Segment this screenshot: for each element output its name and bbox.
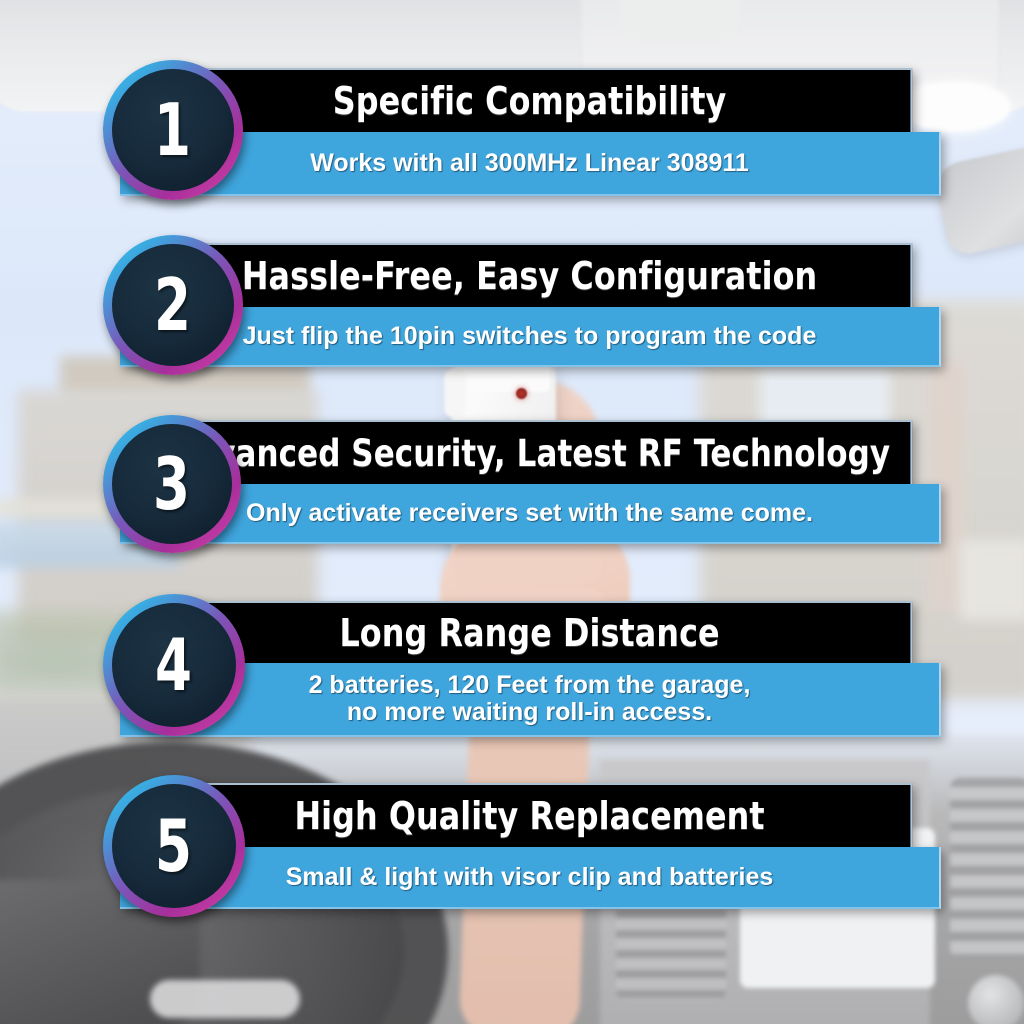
badge-number: 2: [155, 263, 192, 347]
console-knob: [968, 975, 1024, 1024]
feature-title-text: Long Range Distance: [339, 611, 719, 655]
feature-title-bar: Specific Compatibility: [149, 68, 913, 132]
feature-number-badge: 3: [103, 415, 241, 553]
badge-inner-circle: 1: [112, 69, 234, 191]
badge-number: 5: [156, 804, 193, 888]
feature-subtitle-bar: Works with all 300MHz Linear 308911: [120, 132, 941, 196]
badge-number: 3: [154, 442, 191, 526]
infographic-canvas: Specific CompatibilityWorks with all 300…: [0, 0, 1024, 1024]
feature-bars: Advanced Security, Latest RF TechnologyO…: [120, 420, 941, 544]
feature-title-text: Hassle-Free, Easy Configuration: [242, 254, 817, 298]
feature-title-bar: Advanced Security, Latest RF Technology: [149, 420, 913, 484]
car-roof-seam: [620, 0, 740, 40]
feature-subtitle-text: Only activate receivers set with the sam…: [246, 500, 813, 527]
badge-inner-circle: 4: [112, 603, 236, 727]
visor-clip: [444, 368, 466, 418]
feature-bars: Hassle-Free, Easy ConfigurationJust flip…: [120, 243, 941, 367]
feature-subtitle-bar: Only activate receivers set with the sam…: [120, 484, 941, 544]
feature-title-bar: Hassle-Free, Easy Configuration: [149, 243, 913, 307]
feature-number-badge: 1: [103, 60, 243, 200]
badge-inner-circle: 2: [112, 244, 234, 366]
feature-title-text: Advanced Security, Latest RF Technology: [169, 432, 890, 475]
feature-subtitle-bar: Just flip the 10pin switches to program …: [120, 307, 941, 367]
feature-title-bar: High Quality Replacement: [149, 783, 913, 847]
feature-title-text: High Quality Replacement: [294, 794, 764, 838]
badge-inner-circle: 5: [112, 784, 236, 908]
feature-number-badge: 5: [103, 775, 245, 917]
feature-subtitle-text: Works with all 300MHz Linear 308911: [310, 150, 749, 177]
feature-number-badge: 2: [103, 235, 243, 375]
badge-number: 4: [156, 623, 193, 707]
badge-inner-circle: 3: [112, 424, 232, 544]
feature-title-text: Specific Compatibility: [333, 79, 727, 123]
feature-title-bar: Long Range Distance: [149, 601, 913, 663]
feature-subtitle-text: 2 batteries, 120 Feet from the garage,: [309, 672, 751, 699]
finger: [452, 540, 602, 584]
badge-number: 1: [155, 88, 192, 172]
feature-subtitle-text: no more waiting roll-in access.: [347, 699, 712, 726]
steering-column-stalk: [150, 980, 300, 1018]
feature-subtitle-text: Just flip the 10pin switches to program …: [243, 323, 817, 350]
feature-number-badge: 4: [103, 594, 245, 736]
console-vent-right: [950, 778, 1024, 958]
feature-subtitle-text: Small & light with visor clip and batter…: [286, 864, 774, 891]
remote-led-indicator: [516, 388, 527, 399]
feature-bars: Specific CompatibilityWorks with all 300…: [120, 68, 941, 196]
outdoor-planter: [960, 540, 1024, 620]
